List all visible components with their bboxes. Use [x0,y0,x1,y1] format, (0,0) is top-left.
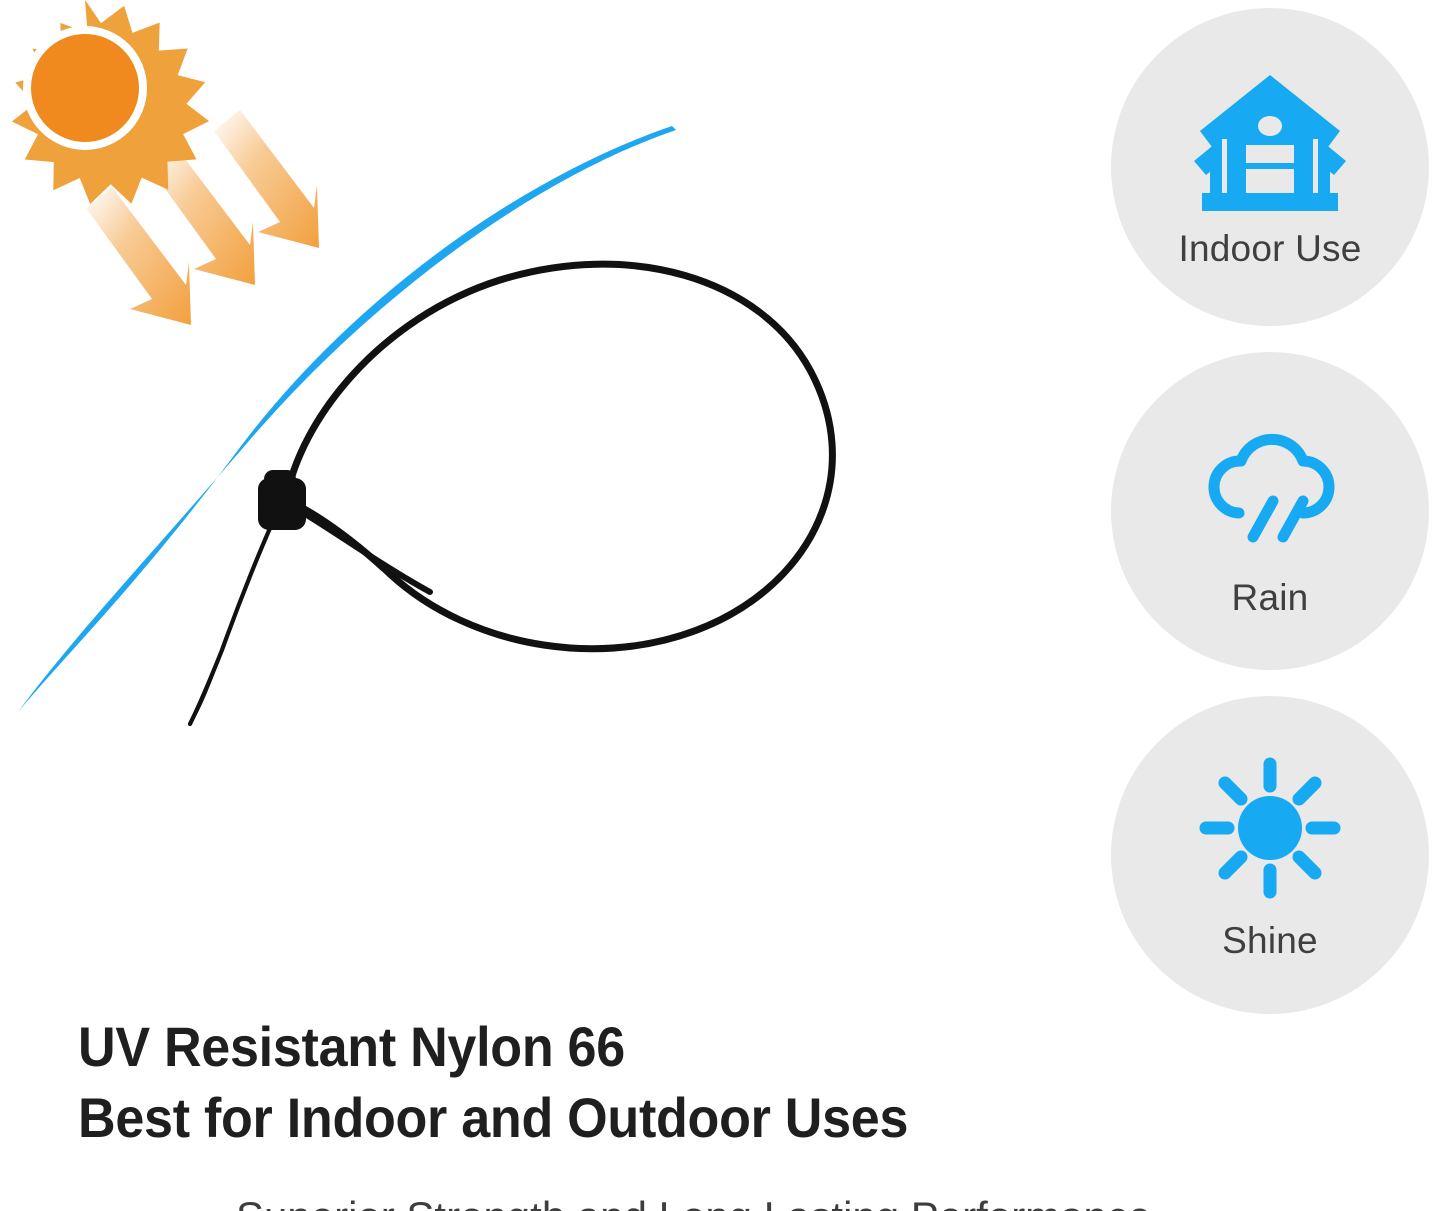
badge-rain[interactable]: Rain [1111,352,1429,670]
product-illustration [0,0,1100,1000]
infographic-root: Indoor Use Rain [0,0,1432,1211]
badge-shine[interactable]: Shine [1111,696,1429,1014]
headline-block: UV Resistant Nylon 66 Best for Indoor an… [78,1012,1078,1153]
badge-label-indoor-use: Indoor Use [1179,230,1362,267]
uv-ray-arrow-icon [86,187,191,325]
sun-icon [1186,752,1354,904]
badge-label-shine: Shine [1222,922,1318,959]
headline-line-1: UV Resistant Nylon 66 [78,1012,1008,1083]
cable-tie-icon [190,264,832,724]
badge-label-rain: Rain [1232,579,1309,616]
headline-line-2: Best for Indoor and Outdoor Uses [78,1083,1008,1154]
badge-indoor-use[interactable]: Indoor Use [1111,8,1429,326]
feature-badge-list: Indoor Use Rain [1108,8,1432,1018]
clipped-caption-text: Superior Strength and Long Lasting Perfo… [236,1196,1256,1211]
clipped-caption: Superior Strength and Long Lasting Perfo… [236,1196,1256,1211]
rain-cloud-icon [1186,407,1354,559]
house-icon [1186,68,1354,220]
